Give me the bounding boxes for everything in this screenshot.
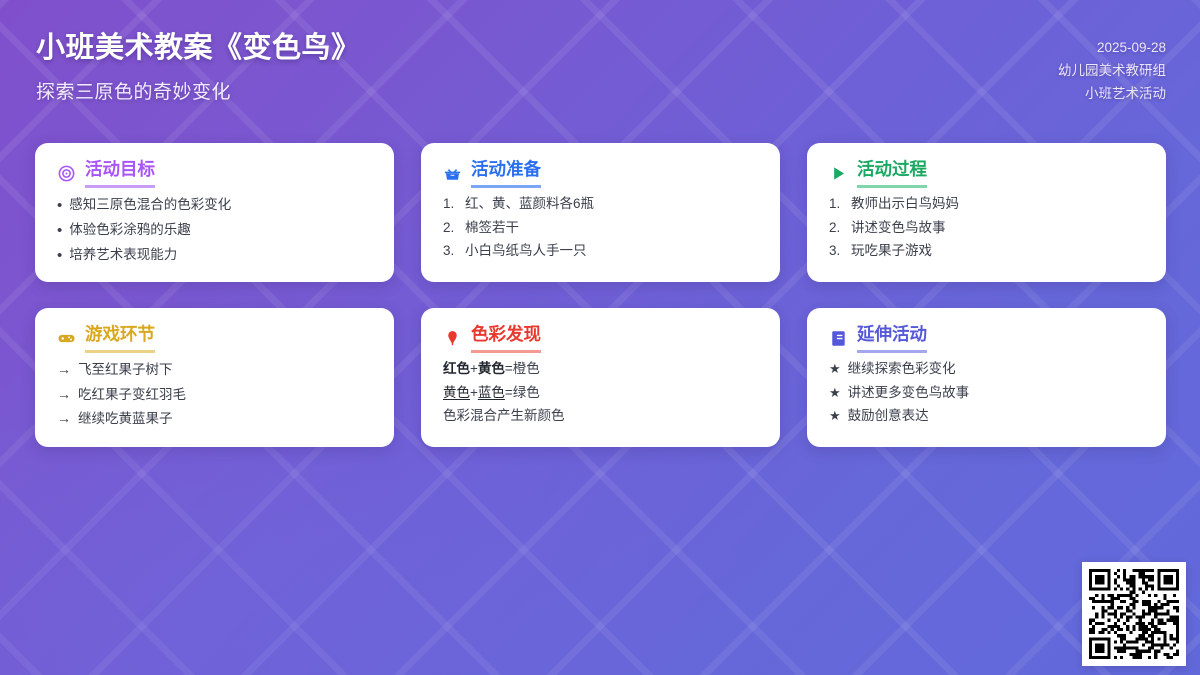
card-body: →飞至红果子树下→吃红果子变红羽毛→继续吃黄蓝果子 — [57, 362, 374, 426]
list-marker: 2. — [829, 221, 844, 235]
pin-icon — [443, 329, 462, 348]
card-color-discovery: 色彩发现红色+黄色=橙色黄色+蓝色=绿色色彩混合产生新颜色 — [421, 308, 780, 447]
list-item-label: 培养艺术表现能力 — [69, 248, 177, 262]
header-meta: 2025-09-28 幼儿园美术教研组 小班艺术活动 — [1058, 36, 1166, 106]
list-item: •体验色彩涂鸦的乐趣 — [57, 222, 374, 237]
card-title: 延伸活动 — [857, 324, 927, 353]
card-activity-process: 活动过程1.教师出示白鸟妈妈2.讲述变色鸟故事3.玩吃果子游戏 — [807, 143, 1166, 282]
list-item: 3.玩吃果子游戏 — [829, 244, 1146, 258]
list-item: ★讲述更多变色鸟故事 — [829, 386, 1146, 400]
list-item-label: 继续吃黄蓝果子 — [78, 412, 173, 426]
list-marker: • — [57, 198, 62, 213]
meta-date: 2025-09-28 — [1058, 36, 1166, 59]
card-header: 色彩发现 — [443, 324, 760, 353]
list-marker: ★ — [829, 409, 841, 422]
card-header: 活动过程 — [829, 159, 1146, 188]
list-item-label: 教师出示白鸟妈妈 — [851, 197, 959, 211]
list-item: 黄色+蓝色=绿色 — [443, 386, 760, 400]
card-game-section: 游戏环节→飞至红果子树下→吃红果子变红羽毛→继续吃黄蓝果子 — [35, 308, 394, 447]
meta-org: 幼儿园美术教研组 — [1058, 59, 1166, 82]
list-item: →继续吃黄蓝果子 — [57, 411, 374, 426]
list-item-label: 红色+黄色=橙色 — [443, 362, 540, 376]
list-item-label: 黄色+蓝色=绿色 — [443, 386, 540, 400]
card-header: 活动准备 — [443, 159, 760, 188]
list-item: 1.教师出示白鸟妈妈 — [829, 197, 1146, 211]
card-header: 活动目标 — [57, 159, 374, 188]
card-body: •感知三原色混合的色彩变化•体验色彩涂鸦的乐趣•培养艺术表现能力 — [57, 197, 374, 262]
list-item-label: 飞至红果子树下 — [78, 363, 173, 377]
gamepad-icon — [57, 329, 76, 348]
list-marker: 3. — [443, 244, 458, 258]
slide-header: 小班美术教案《变色鸟》 探索三原色的奇妙变化 2025-09-28 幼儿园美术教… — [0, 0, 1200, 130]
list-item-label: 棉签若干 — [465, 221, 519, 235]
card-body: 红色+黄色=橙色黄色+蓝色=绿色色彩混合产生新颜色 — [443, 362, 760, 423]
card-body: 1.红、黄、蓝颜料各6瓶2.棉签若干3.小白鸟纸鸟人手一只 — [443, 197, 760, 258]
list-marker: • — [57, 223, 62, 238]
list-item-label: 小白鸟纸鸟人手一只 — [465, 244, 587, 258]
list-marker: 1. — [443, 197, 458, 211]
list-item: 红色+黄色=橙色 — [443, 362, 760, 376]
list-item-label: 色彩混合产生新颜色 — [443, 409, 565, 423]
card-title: 活动目标 — [85, 159, 155, 188]
open-box-icon — [443, 164, 462, 183]
list-item: ★继续探索色彩变化 — [829, 362, 1146, 376]
list-item-label: 吃红果子变红羽毛 — [78, 388, 186, 402]
card-title: 活动过程 — [857, 159, 927, 188]
card-title: 游戏环节 — [85, 324, 155, 353]
list-item: •培养艺术表现能力 — [57, 247, 374, 262]
card-title: 色彩发现 — [471, 324, 541, 353]
card-body: 1.教师出示白鸟妈妈2.讲述变色鸟故事3.玩吃果子游戏 — [829, 197, 1146, 258]
page-subtitle: 探索三原色的奇妙变化 — [36, 77, 1166, 104]
qr-code[interactable] — [1082, 562, 1186, 666]
list-item-label: 继续探索色彩变化 — [848, 362, 956, 376]
list-marker: 2. — [443, 221, 458, 235]
card-title: 活动准备 — [471, 159, 541, 188]
list-marker: ★ — [829, 386, 841, 399]
list-item: •感知三原色混合的色彩变化 — [57, 197, 374, 212]
card-activity-goals: 活动目标•感知三原色混合的色彩变化•体验色彩涂鸦的乐趣•培养艺术表现能力 — [35, 143, 394, 282]
list-item-label: 玩吃果子游戏 — [851, 244, 932, 258]
card-activity-preparation: 活动准备1.红、黄、蓝颜料各6瓶2.棉签若干3.小白鸟纸鸟人手一只 — [421, 143, 780, 282]
book-icon — [829, 329, 848, 348]
list-item-label: 鼓励创意表达 — [848, 409, 929, 423]
list-item: 2.讲述变色鸟故事 — [829, 221, 1146, 235]
list-item: 1.红、黄、蓝颜料各6瓶 — [443, 197, 760, 211]
card-header: 延伸活动 — [829, 324, 1146, 353]
list-item-label: 红、黄、蓝颜料各6瓶 — [465, 197, 594, 211]
list-marker: • — [57, 248, 62, 263]
list-item: →飞至红果子树下 — [57, 362, 374, 377]
list-item-label: 体验色彩涂鸦的乐趣 — [69, 223, 191, 237]
list-item-label: 讲述变色鸟故事 — [851, 221, 946, 235]
card-header: 游戏环节 — [57, 324, 374, 353]
list-item-label: 讲述更多变色鸟故事 — [848, 386, 970, 400]
card-body: ★继续探索色彩变化★讲述更多变色鸟故事★鼓励创意表达 — [829, 362, 1146, 423]
list-marker: 3. — [829, 244, 844, 258]
list-marker: ★ — [829, 362, 841, 375]
qr-code-image — [1089, 569, 1179, 659]
list-marker: → — [57, 387, 71, 401]
target-icon — [57, 164, 76, 183]
list-marker: → — [57, 362, 71, 376]
play-triangle-icon — [829, 164, 848, 183]
card-grid: 活动目标•感知三原色混合的色彩变化•体验色彩涂鸦的乐趣•培养艺术表现能力 活动准… — [35, 143, 1165, 447]
card-extension-activity: 延伸活动★继续探索色彩变化★讲述更多变色鸟故事★鼓励创意表达 — [807, 308, 1166, 447]
list-item: 2.棉签若干 — [443, 221, 760, 235]
list-item: ★鼓励创意表达 — [829, 409, 1146, 423]
list-item-label: 感知三原色混合的色彩变化 — [69, 198, 231, 212]
slide-root: 小班美术教案《变色鸟》 探索三原色的奇妙变化 2025-09-28 幼儿园美术教… — [0, 0, 1200, 675]
page-title: 小班美术教案《变色鸟》 — [36, 30, 1166, 66]
list-marker: → — [57, 411, 71, 425]
meta-category: 小班艺术活动 — [1058, 82, 1166, 105]
list-item: 3.小白鸟纸鸟人手一只 — [443, 244, 760, 258]
list-item: →吃红果子变红羽毛 — [57, 387, 374, 402]
list-item: 色彩混合产生新颜色 — [443, 409, 760, 423]
list-marker: 1. — [829, 197, 844, 211]
